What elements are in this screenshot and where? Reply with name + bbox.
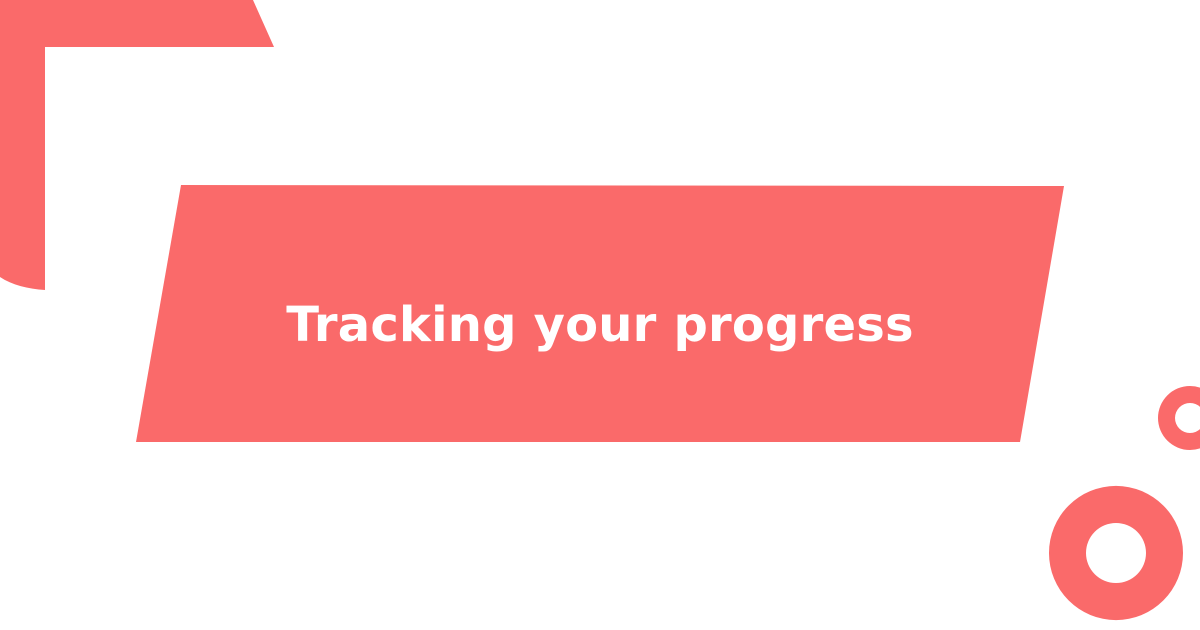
banner-shape [136, 185, 1064, 442]
decoration-layer [0, 0, 1200, 630]
poster-canvas: Tracking your progress [0, 0, 1200, 630]
large-ring-shape [1049, 486, 1183, 620]
small-ring-shape [1158, 386, 1200, 450]
